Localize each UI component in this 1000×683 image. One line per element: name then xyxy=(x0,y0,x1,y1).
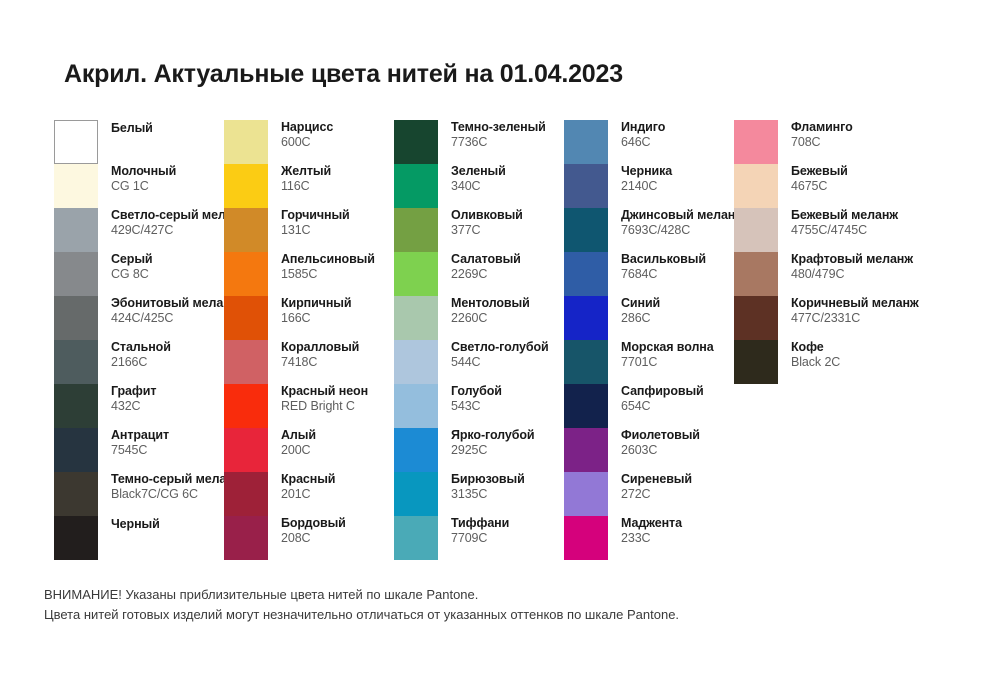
color-grid: БелыйМолочныйCG 1CСветло-серый меланж429… xyxy=(54,120,974,560)
color-labels: Антрацит7545C xyxy=(98,428,169,457)
color-row: Стальной2166C xyxy=(54,340,224,384)
color-labels: Зеленый340C xyxy=(438,164,506,193)
color-name: Оливковый xyxy=(451,208,523,223)
color-swatch xyxy=(564,120,608,164)
color-name: Индиго xyxy=(621,120,665,135)
color-code: CG 8C xyxy=(111,267,152,282)
color-swatch xyxy=(564,340,608,384)
color-swatch xyxy=(224,472,268,516)
color-code: 7701C xyxy=(621,355,714,370)
color-swatch xyxy=(224,516,268,560)
color-labels: Горчичный131C xyxy=(268,208,350,237)
color-name: Светло-голубой xyxy=(451,340,549,355)
color-swatch xyxy=(54,296,98,340)
color-swatch xyxy=(394,164,438,208)
color-labels: Алый200C xyxy=(268,428,316,457)
color-swatch xyxy=(54,208,98,252)
color-name: Ярко-голубой xyxy=(451,428,534,443)
color-row: МолочныйCG 1C xyxy=(54,164,224,208)
color-code: 2603C xyxy=(621,443,700,458)
color-labels: Стальной2166C xyxy=(98,340,171,369)
color-code: 7736C xyxy=(451,135,546,150)
color-labels: Ярко-голубой2925C xyxy=(438,428,534,457)
color-code: 480/479C xyxy=(791,267,913,282)
color-swatch xyxy=(394,428,438,472)
color-code: 432C xyxy=(111,399,156,414)
color-column: Нарцисс600CЖелтый116CГорчичный131CАпельс… xyxy=(224,120,394,560)
color-swatch xyxy=(734,340,778,384)
color-code: 131C xyxy=(281,223,350,238)
color-swatch xyxy=(224,340,268,384)
color-row: Темно-зеленый7736C xyxy=(394,120,564,164)
color-name: Джинсовый меланж xyxy=(621,208,744,223)
color-labels: Светло-голубой544C xyxy=(438,340,549,369)
color-row: Бежевый4675C xyxy=(734,164,924,208)
color-swatch xyxy=(564,384,608,428)
color-name: Морская волна xyxy=(621,340,714,355)
color-code: 2140C xyxy=(621,179,672,194)
color-code: 7709C xyxy=(451,531,509,546)
color-code: 2269C xyxy=(451,267,521,282)
color-swatch xyxy=(54,252,98,296)
color-labels: Черный xyxy=(98,516,160,532)
color-swatch xyxy=(394,516,438,560)
color-name: Кофе xyxy=(791,340,840,355)
color-row: Васильковый7684C xyxy=(564,252,734,296)
color-name: Коралловый xyxy=(281,340,359,355)
color-name: Серый xyxy=(111,252,152,267)
color-row: Кирпичный166C xyxy=(224,296,394,340)
color-row: СерыйCG 8C xyxy=(54,252,224,296)
color-row: Сиреневый272C xyxy=(564,472,734,516)
color-column: Индиго646CЧерника2140CДжинсовый меланж76… xyxy=(564,120,734,560)
color-swatch xyxy=(564,472,608,516)
color-labels: Белый xyxy=(98,120,153,136)
color-row: Бордовый208C xyxy=(224,516,394,560)
color-code: 4675C xyxy=(791,179,848,194)
color-row: Алый200C xyxy=(224,428,394,472)
color-labels: Тиффани7709C xyxy=(438,516,509,545)
color-name: Темно-серый меланж xyxy=(111,472,242,487)
color-labels: Графит432C xyxy=(98,384,156,413)
color-swatch xyxy=(394,384,438,428)
color-name: Ментоловый xyxy=(451,296,530,311)
color-row: Зеленый340C xyxy=(394,164,564,208)
color-row: Светло-серый меланж429C/427C xyxy=(54,208,224,252)
color-code: 708C xyxy=(791,135,853,150)
color-labels: Морская волна7701C xyxy=(608,340,714,369)
color-swatch xyxy=(394,208,438,252)
color-labels: Сиреневый272C xyxy=(608,472,692,501)
color-row: Красный неонRED Bright C xyxy=(224,384,394,428)
color-labels: Красный201C xyxy=(268,472,335,501)
color-code: RED Bright C xyxy=(281,399,368,414)
color-name: Апельсиновый xyxy=(281,252,375,267)
color-labels: Бирюзовый3135C xyxy=(438,472,525,501)
color-row: Коралловый7418C xyxy=(224,340,394,384)
color-name: Бежевый xyxy=(791,164,848,179)
color-code: 2260C xyxy=(451,311,530,326)
color-labels: Индиго646C xyxy=(608,120,665,149)
color-name: Фламинго xyxy=(791,120,853,135)
color-code: 4755C/4745C xyxy=(791,223,898,238)
color-name: Графит xyxy=(111,384,156,399)
color-row: Антрацит7545C xyxy=(54,428,224,472)
color-chart-page: Акрил. Актуальные цвета нитей на 01.04.2… xyxy=(0,0,1000,683)
color-code: 654C xyxy=(621,399,704,414)
color-swatch xyxy=(734,208,778,252)
color-code: 200C xyxy=(281,443,316,458)
color-name: Тиффани xyxy=(451,516,509,531)
color-labels: Черника2140C xyxy=(608,164,672,193)
color-name: Желтый xyxy=(281,164,331,179)
color-code: Black 2C xyxy=(791,355,840,370)
color-name: Крафтовый меланж xyxy=(791,252,913,267)
color-swatch xyxy=(224,208,268,252)
color-swatch xyxy=(54,428,98,472)
color-name: Салатовый xyxy=(451,252,521,267)
color-labels: Коричневый меланж477C/2331C xyxy=(778,296,919,325)
color-row: Белый xyxy=(54,120,224,164)
color-name: Сапфировый xyxy=(621,384,704,399)
color-swatch xyxy=(394,296,438,340)
color-code: 2925C xyxy=(451,443,534,458)
color-row: Эбонитовый меланж424C/425C xyxy=(54,296,224,340)
color-name: Коричневый меланж xyxy=(791,296,919,311)
color-name: Синий xyxy=(621,296,660,311)
color-row: Джинсовый меланж7693C/428C xyxy=(564,208,734,252)
color-labels: Синий286C xyxy=(608,296,660,325)
color-row: Маджента233C xyxy=(564,516,734,560)
color-code: 543C xyxy=(451,399,502,414)
color-labels: Фламинго708C xyxy=(778,120,853,149)
color-row: Фиолетовый2603C xyxy=(564,428,734,472)
color-name: Голубой xyxy=(451,384,502,399)
color-code: 7418C xyxy=(281,355,359,370)
color-labels: Оливковый377C xyxy=(438,208,523,237)
color-swatch xyxy=(564,516,608,560)
color-column: Фламинго708CБежевый4675CБежевый меланж47… xyxy=(734,120,924,384)
color-swatch xyxy=(564,428,608,472)
color-labels: Темно-зеленый7736C xyxy=(438,120,546,149)
color-row: Горчичный131C xyxy=(224,208,394,252)
color-row: Ментоловый2260C xyxy=(394,296,564,340)
color-row: Желтый116C xyxy=(224,164,394,208)
color-labels: Маджента233C xyxy=(608,516,682,545)
color-swatch xyxy=(54,340,98,384)
color-row: Графит432C xyxy=(54,384,224,428)
color-labels: Васильковый7684C xyxy=(608,252,706,281)
color-swatch xyxy=(224,252,268,296)
color-swatch xyxy=(224,428,268,472)
color-row: Нарцисс600C xyxy=(224,120,394,164)
color-swatch xyxy=(564,296,608,340)
color-code: 340C xyxy=(451,179,506,194)
color-swatch xyxy=(564,164,608,208)
disclaimer-note: ВНИМАНИЕ! Указаны приблизительные цвета … xyxy=(44,585,679,625)
color-swatch xyxy=(734,296,778,340)
color-row: Ярко-голубой2925C xyxy=(394,428,564,472)
color-labels: Кирпичный166C xyxy=(268,296,351,325)
page-title: Акрил. Актуальные цвета нитей на 01.04.2… xyxy=(64,60,623,89)
color-row: Темно-серый меланжBlack7C/CG 6C xyxy=(54,472,224,516)
color-name: Темно-зеленый xyxy=(451,120,546,135)
color-name: Сиреневый xyxy=(621,472,692,487)
color-code: 233C xyxy=(621,531,682,546)
color-labels: Эбонитовый меланж424C/425C xyxy=(98,296,239,325)
color-labels: Бежевый4675C xyxy=(778,164,848,193)
color-swatch xyxy=(394,472,438,516)
color-labels: Апельсиновый1585C xyxy=(268,252,375,281)
color-row: КофеBlack 2C xyxy=(734,340,924,384)
color-code: 166C xyxy=(281,311,351,326)
color-name: Черника xyxy=(621,164,672,179)
color-name: Зеленый xyxy=(451,164,506,179)
color-row: Крафтовый меланж480/479C xyxy=(734,252,924,296)
color-labels: Крафтовый меланж480/479C xyxy=(778,252,913,281)
color-row: Красный201C xyxy=(224,472,394,516)
color-name: Кирпичный xyxy=(281,296,351,311)
color-code: 3135C xyxy=(451,487,525,502)
color-labels: Темно-серый меланжBlack7C/CG 6C xyxy=(98,472,242,501)
color-row: Морская волна7701C xyxy=(564,340,734,384)
color-name: Алый xyxy=(281,428,316,443)
color-code: 286C xyxy=(621,311,660,326)
color-code: 7684C xyxy=(621,267,706,282)
color-code: CG 1C xyxy=(111,179,176,194)
color-code: 377C xyxy=(451,223,523,238)
color-labels: Салатовый2269C xyxy=(438,252,521,281)
color-labels: КофеBlack 2C xyxy=(778,340,840,369)
color-name: Горчичный xyxy=(281,208,350,223)
color-labels: Фиолетовый2603C xyxy=(608,428,700,457)
color-row: Бирюзовый3135C xyxy=(394,472,564,516)
color-code: 1585C xyxy=(281,267,375,282)
color-swatch xyxy=(734,252,778,296)
color-swatch xyxy=(54,164,98,208)
color-swatch xyxy=(224,296,268,340)
color-swatch xyxy=(224,384,268,428)
color-row: Черный xyxy=(54,516,224,560)
color-code: 600C xyxy=(281,135,333,150)
color-row: Фламинго708C xyxy=(734,120,924,164)
color-name: Бежевый меланж xyxy=(791,208,898,223)
color-row: Апельсиновый1585C xyxy=(224,252,394,296)
color-labels: Голубой543C xyxy=(438,384,502,413)
color-name: Маджента xyxy=(621,516,682,531)
color-swatch xyxy=(54,472,98,516)
color-labels: СерыйCG 8C xyxy=(98,252,152,281)
color-row: Коричневый меланж477C/2331C xyxy=(734,296,924,340)
color-swatch xyxy=(224,164,268,208)
color-code: 477C/2331C xyxy=(791,311,919,326)
color-name: Фиолетовый xyxy=(621,428,700,443)
color-row: Черника2140C xyxy=(564,164,734,208)
color-column: Темно-зеленый7736CЗеленый340CОливковый37… xyxy=(394,120,564,560)
color-labels: Ментоловый2260C xyxy=(438,296,530,325)
color-row: Бежевый меланж4755C/4745C xyxy=(734,208,924,252)
color-code: 272C xyxy=(621,487,692,502)
color-code: 7693C/428C xyxy=(621,223,744,238)
color-swatch xyxy=(224,120,268,164)
color-name: Стальной xyxy=(111,340,171,355)
color-name: Бордовый xyxy=(281,516,346,531)
color-labels: Сапфировый654C xyxy=(608,384,704,413)
color-name: Черный xyxy=(111,517,160,532)
color-labels: Коралловый7418C xyxy=(268,340,359,369)
color-name: Бирюзовый xyxy=(451,472,525,487)
color-swatch xyxy=(734,120,778,164)
color-swatch xyxy=(734,164,778,208)
color-swatch xyxy=(394,120,438,164)
color-swatch xyxy=(54,384,98,428)
color-labels: Нарцисс600C xyxy=(268,120,333,149)
color-row: Синий286C xyxy=(564,296,734,340)
color-name: Васильковый xyxy=(621,252,706,267)
color-labels: Красный неонRED Bright C xyxy=(268,384,368,413)
color-labels: Бежевый меланж4755C/4745C xyxy=(778,208,898,237)
color-labels: Бордовый208C xyxy=(268,516,346,545)
color-code: 7545C xyxy=(111,443,169,458)
color-row: Светло-голубой544C xyxy=(394,340,564,384)
color-code: 208C xyxy=(281,531,346,546)
color-row: Голубой543C xyxy=(394,384,564,428)
color-swatch xyxy=(394,252,438,296)
color-name: Красный xyxy=(281,472,335,487)
color-swatch xyxy=(394,340,438,384)
color-name: Белый xyxy=(111,121,153,136)
color-row: Салатовый2269C xyxy=(394,252,564,296)
color-name: Молочный xyxy=(111,164,176,179)
color-name: Красный неон xyxy=(281,384,368,399)
color-swatch xyxy=(54,516,98,560)
color-labels: Желтый116C xyxy=(268,164,331,193)
color-row: Индиго646C xyxy=(564,120,734,164)
color-name: Эбонитовый меланж xyxy=(111,296,239,311)
color-code: Black7C/CG 6C xyxy=(111,487,242,502)
color-row: Сапфировый654C xyxy=(564,384,734,428)
color-column: БелыйМолочныйCG 1CСветло-серый меланж429… xyxy=(54,120,224,560)
color-row: Оливковый377C xyxy=(394,208,564,252)
color-name: Антрацит xyxy=(111,428,169,443)
color-code: 2166C xyxy=(111,355,171,370)
color-code: 646C xyxy=(621,135,665,150)
color-code: 544C xyxy=(451,355,549,370)
color-swatch xyxy=(54,120,98,164)
color-code: 424C/425C xyxy=(111,311,239,326)
color-code: 201C xyxy=(281,487,335,502)
color-labels: Джинсовый меланж7693C/428C xyxy=(608,208,744,237)
color-code: 116C xyxy=(281,179,331,194)
color-name: Нарцисс xyxy=(281,120,333,135)
color-swatch xyxy=(564,208,608,252)
disclaimer-line-1: ВНИМАНИЕ! Указаны приблизительные цвета … xyxy=(44,585,679,605)
disclaimer-line-2: Цвета нитей готовых изделий могут незнач… xyxy=(44,605,679,625)
color-row: Тиффани7709C xyxy=(394,516,564,560)
color-swatch xyxy=(564,252,608,296)
color-labels: МолочныйCG 1C xyxy=(98,164,176,193)
